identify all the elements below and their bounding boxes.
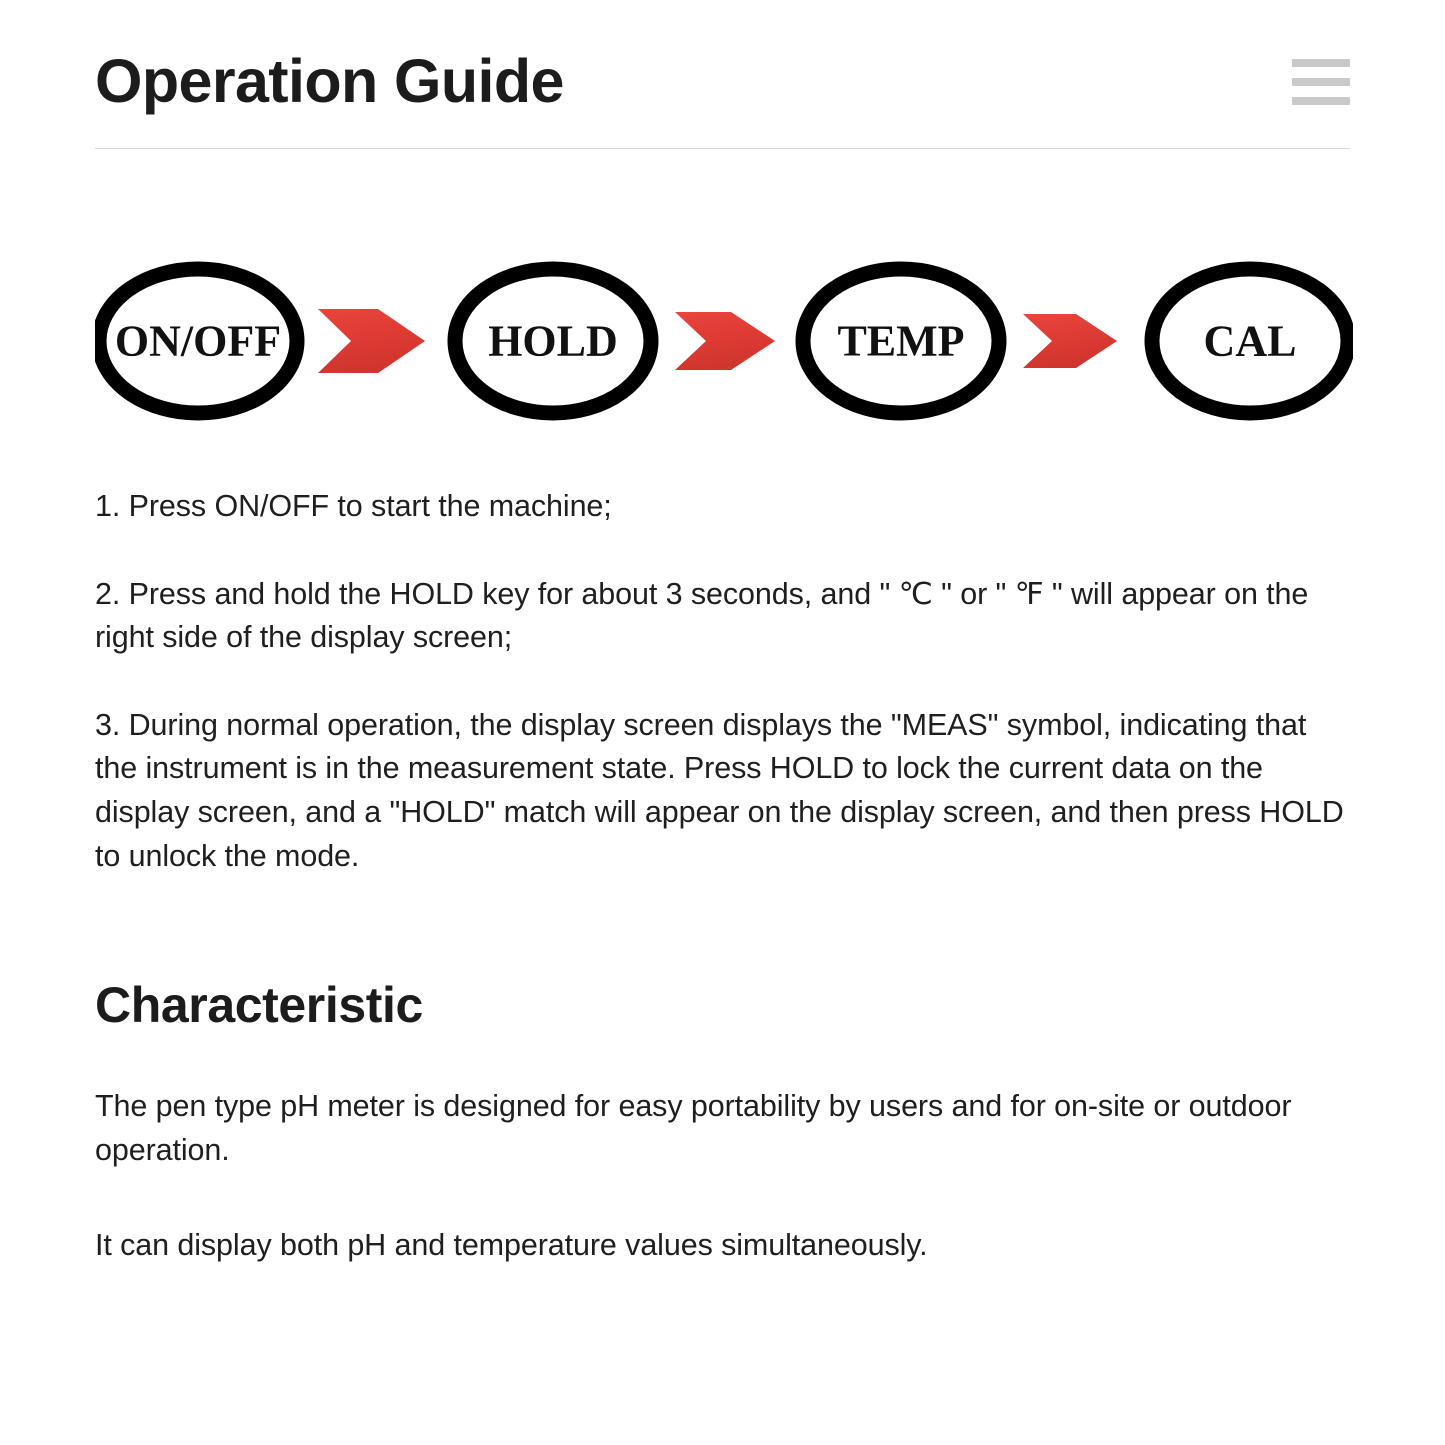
flow-node-cal: CAL <box>1152 269 1348 413</box>
operation-flow-diagram: ON/OFF HOLD TEMP <box>95 261 1350 421</box>
page-title: Operation Guide <box>95 37 564 112</box>
hamburger-bar-bottom <box>1292 97 1350 105</box>
flow-node-label: ON/OFF <box>115 317 281 366</box>
step-2-text: 2. Press and hold the HOLD key for about… <box>95 573 1350 660</box>
characteristic-section: The pen type pH meter is designed for ea… <box>95 1085 1350 1268</box>
hamburger-bar-middle <box>1292 78 1350 86</box>
flow-node-label: TEMP <box>837 317 964 366</box>
page-root: Operation Guide ON/OFF <box>0 0 1445 1445</box>
flow-arrow-2-icon <box>675 312 775 370</box>
hamburger-bar-top <box>1292 59 1350 67</box>
flow-node-hold: HOLD <box>455 269 651 413</box>
operation-steps: 1. Press ON/OFF to start the machine; 2.… <box>95 485 1350 878</box>
flow-node-label: HOLD <box>488 317 618 366</box>
flow-arrow-3-icon <box>1023 314 1117 368</box>
flow-node-label: CAL <box>1204 317 1297 366</box>
characteristic-heading: Characteristic <box>95 878 1350 1033</box>
flow-node-temp: TEMP <box>803 269 999 413</box>
flow-diagram-svg: ON/OFF HOLD TEMP <box>95 261 1353 421</box>
characteristic-paragraph-2: It can display both pH and temperature v… <box>95 1224 1350 1268</box>
flow-node-on-off: ON/OFF <box>99 269 297 413</box>
characteristic-paragraph-1: The pen type pH meter is designed for ea… <box>95 1085 1350 1172</box>
step-1-text: 1. Press ON/OFF to start the machine; <box>95 485 1350 529</box>
header-divider <box>95 148 1350 149</box>
flow-arrow-1-icon <box>318 309 425 373</box>
page-header: Operation Guide <box>95 0 1350 148</box>
step-3-text: 3. During normal operation, the display … <box>95 704 1350 878</box>
hamburger-menu-icon[interactable] <box>1292 43 1350 105</box>
